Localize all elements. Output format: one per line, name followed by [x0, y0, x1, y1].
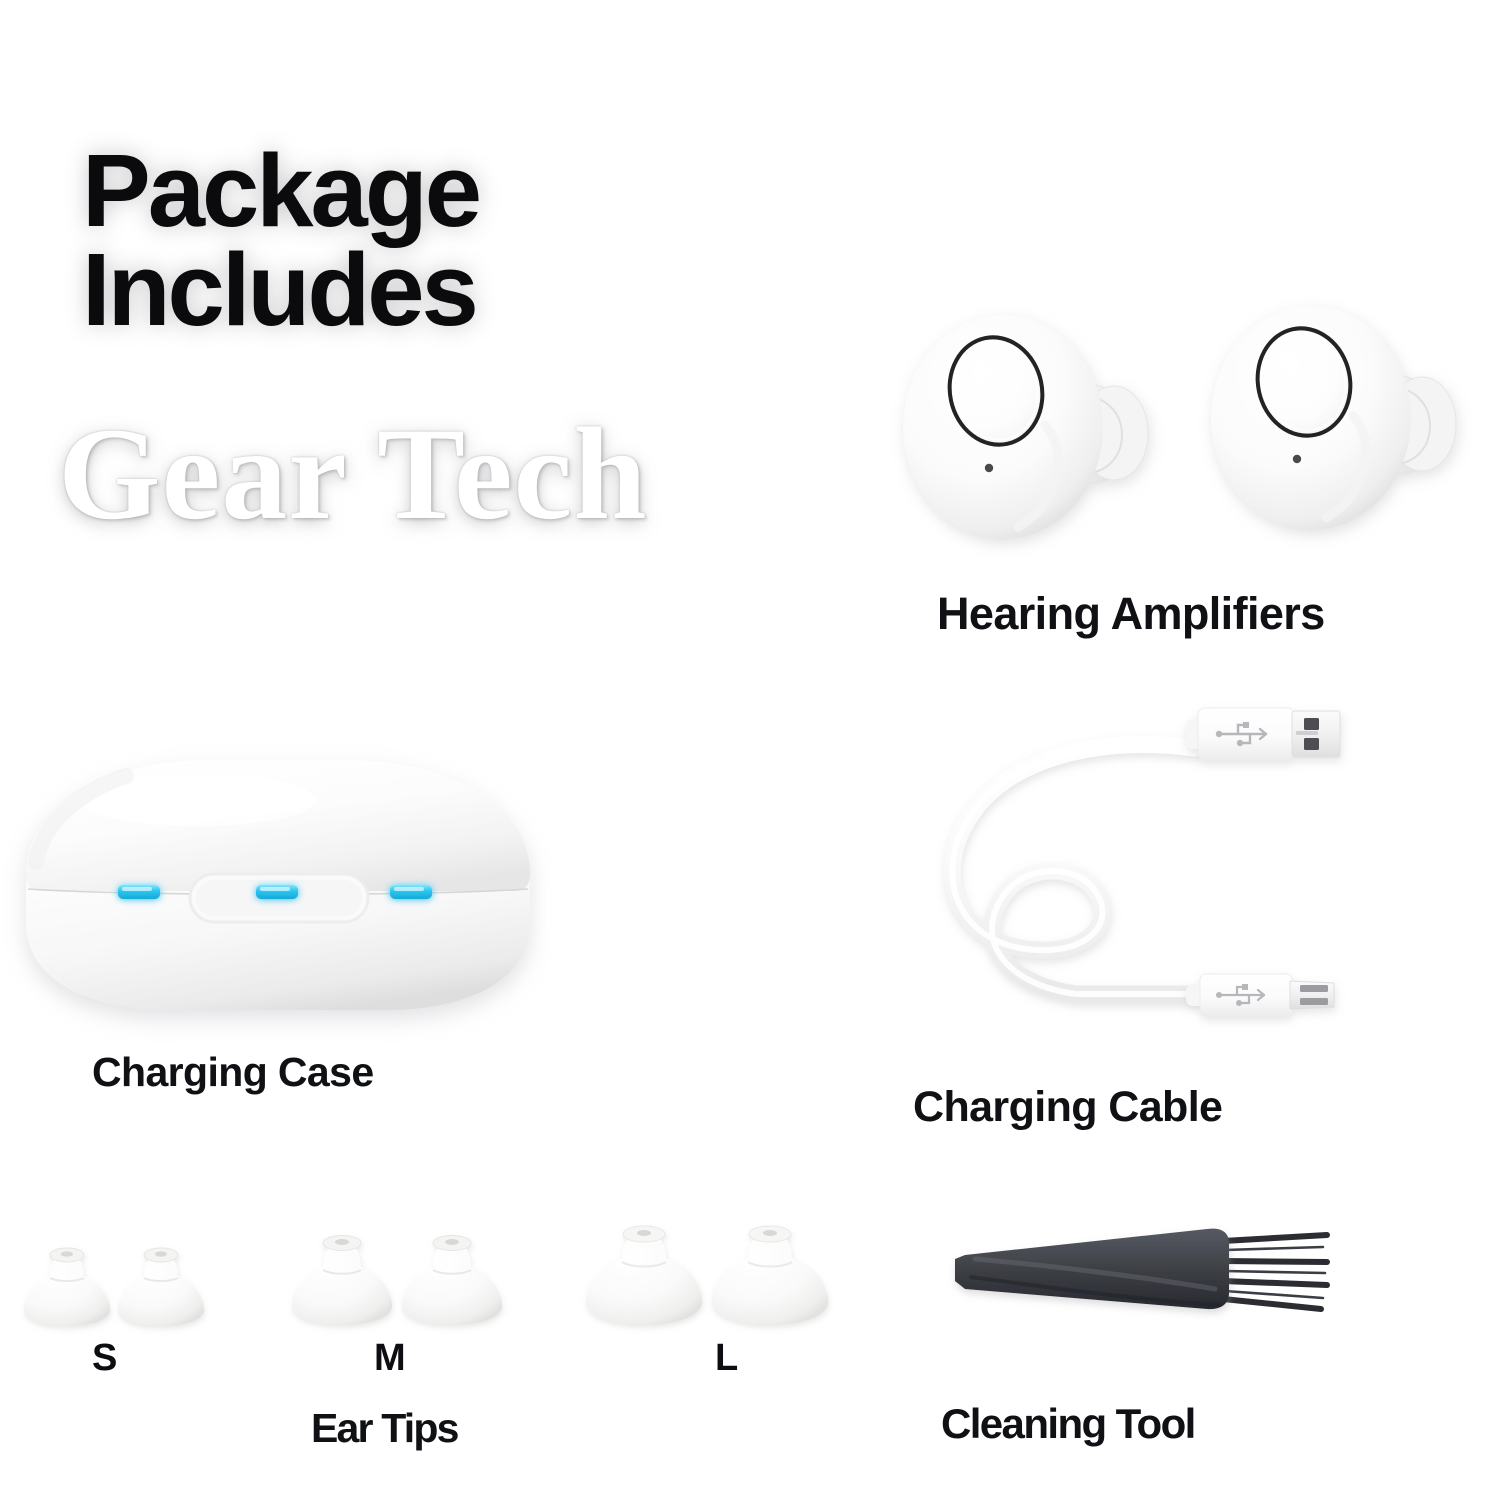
label-cleaning-tool: Cleaning Tool — [941, 1400, 1195, 1448]
usb-a-contact-2 — [1304, 738, 1319, 750]
charging-cable — [868, 696, 1348, 1041]
ear-tip-large-2 — [706, 1222, 834, 1332]
label-charging-cable: Charging Cable — [913, 1083, 1222, 1132]
ear-tip-size-large: L — [715, 1337, 738, 1380]
microphone-hole — [1293, 455, 1301, 463]
label-hearing-amplifiers: Hearing Amplifiers — [937, 588, 1325, 640]
earbud-right — [1208, 296, 1478, 546]
charging-case — [18, 752, 538, 1017]
usb-a-connector — [1186, 708, 1340, 760]
micro-usb-contact-2 — [1300, 998, 1328, 1005]
tool-handle[interactable] — [955, 1229, 1229, 1310]
cable-wire — [952, 744, 1194, 994]
ear-tip-size-medium: M — [374, 1337, 406, 1380]
brand-watermark: Gear Tech — [58, 408, 858, 540]
ear-tip-size-small: S — [92, 1337, 117, 1380]
ear-tip-small-2 — [112, 1240, 210, 1332]
ear-tip-medium-1 — [286, 1228, 398, 1332]
micro-usb-connector — [1186, 974, 1334, 1016]
tool-bristles-thin — [1225, 1247, 1325, 1298]
usb-a-contact-1 — [1304, 718, 1319, 730]
micro-usb-contact-1 — [1300, 985, 1328, 992]
package-includes-infographic: Package Includes Gear Tech — [0, 0, 1500, 1500]
ear-tip-small-1 — [18, 1240, 116, 1332]
microphone-hole — [985, 464, 993, 472]
earbud-left — [900, 305, 1170, 555]
page-title: Package Includes — [82, 142, 702, 340]
cleaning-tool — [935, 1205, 1335, 1350]
ear-tip-large-1 — [580, 1222, 708, 1332]
label-ear-tips: Ear Tips — [311, 1405, 458, 1452]
ear-tip-medium-2 — [396, 1228, 508, 1332]
label-charging-case: Charging Case — [92, 1049, 374, 1096]
